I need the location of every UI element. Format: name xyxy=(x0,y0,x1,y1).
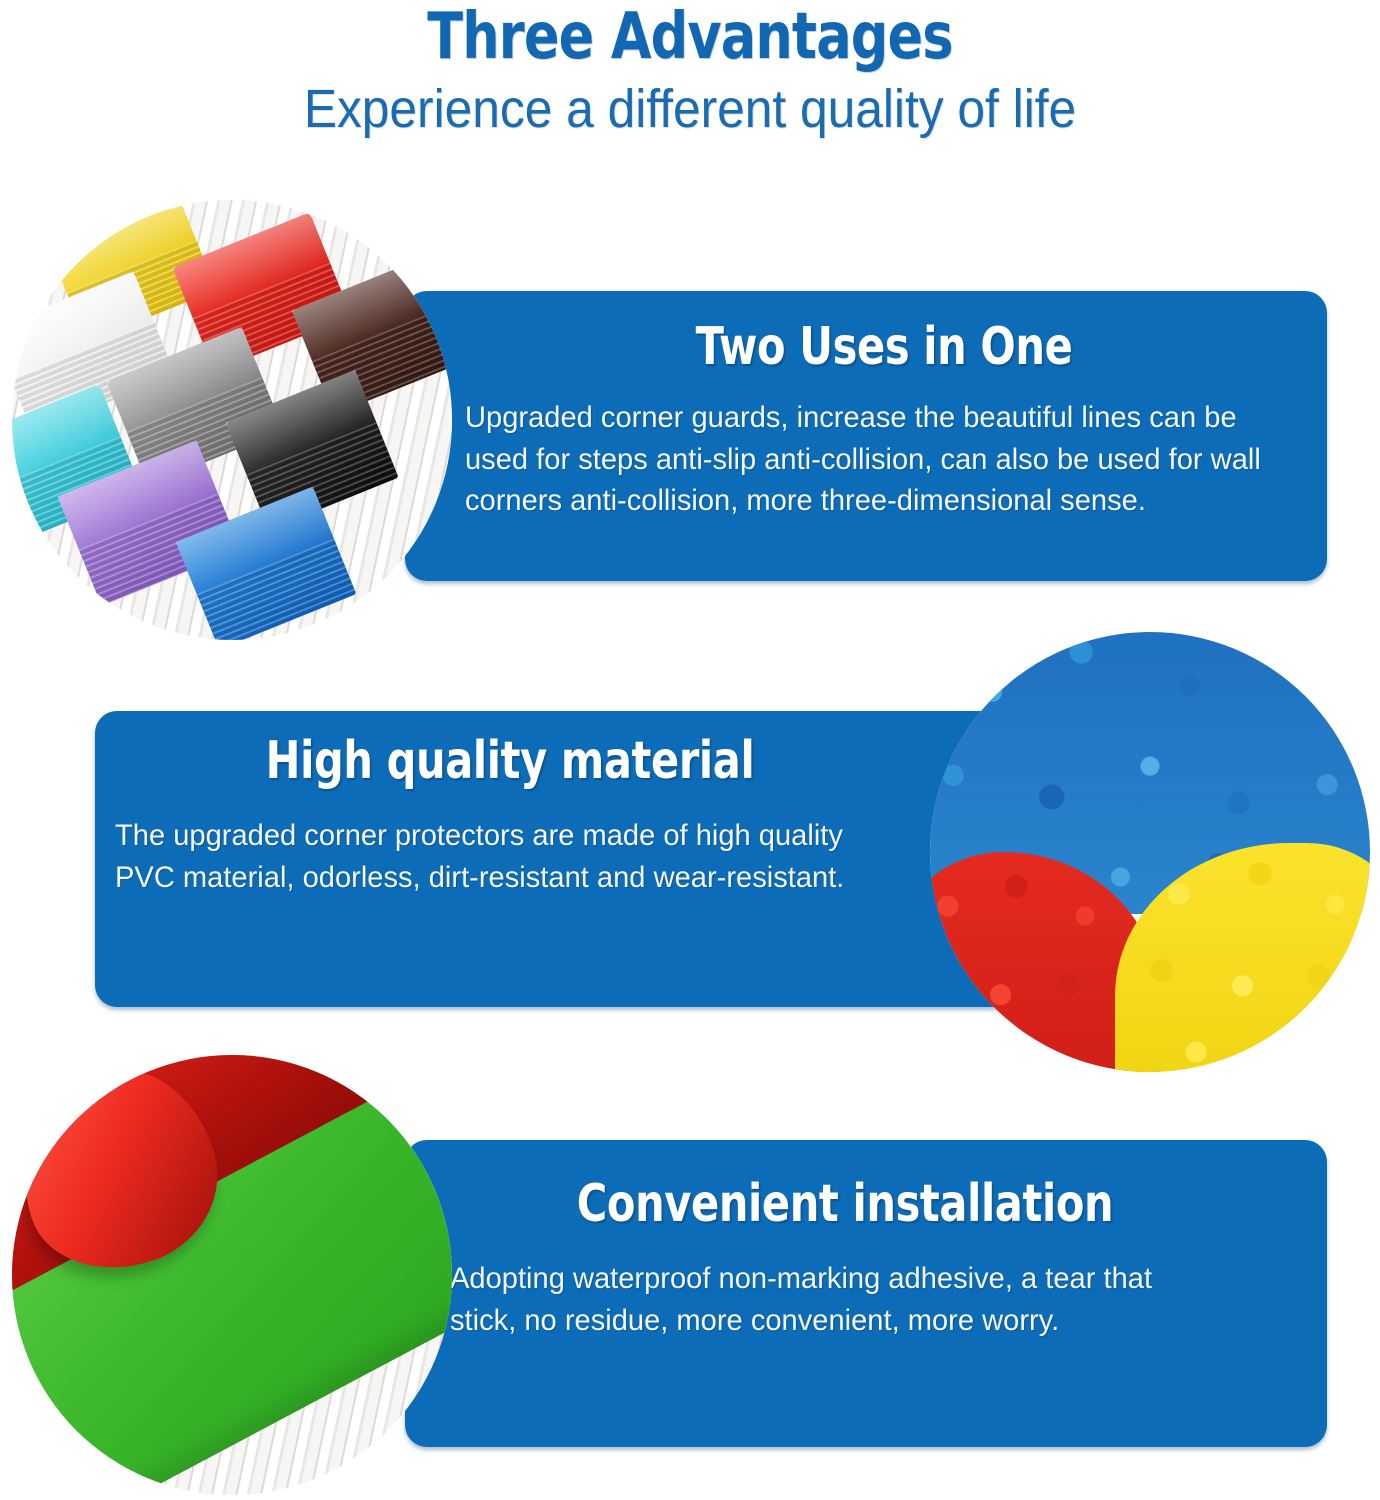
advantage-card-3-body: Adopting waterproof non-marking adhesive… xyxy=(450,1232,1216,1341)
advantage-card-2-heading: High quality material xyxy=(194,733,826,789)
advantage-card-1: Two Uses in One Upgraded corner guards, … xyxy=(405,291,1327,581)
page-subtitle: Experience a different quality of life xyxy=(55,71,1325,138)
advantage-card-1-heading: Two Uses in One xyxy=(549,319,1219,375)
advantage-card-2-content: High quality material The upgraded corne… xyxy=(115,733,905,898)
advantage-card-3-content: Convenient installation Adopting waterpr… xyxy=(450,1176,1240,1341)
advantage-card-1-body: Upgraded corner guards, increase the bea… xyxy=(465,375,1278,521)
advantage-card-1-content: Two Uses in One Upgraded corner guards, … xyxy=(465,319,1303,521)
pvc-pellets-photo xyxy=(930,632,1370,1072)
advantage-card-2-body: The upgraded corner protectors are made … xyxy=(115,789,881,898)
advantage-card-3: Convenient installation Adopting waterpr… xyxy=(405,1140,1327,1447)
advantage-photo-1-corner-guards xyxy=(12,200,452,640)
corner-guards-photo xyxy=(12,200,452,640)
page-title: Three Advantages xyxy=(124,0,1256,71)
page-header: Three Advantages Experience a different … xyxy=(0,0,1380,138)
advantage-photo-3-adhesive xyxy=(12,1055,452,1495)
advantage-card-3-heading: Convenient installation xyxy=(529,1176,1161,1232)
adhesive-peel-photo xyxy=(12,1055,452,1495)
advantage-photo-2-pvc-pellets xyxy=(930,632,1370,1072)
